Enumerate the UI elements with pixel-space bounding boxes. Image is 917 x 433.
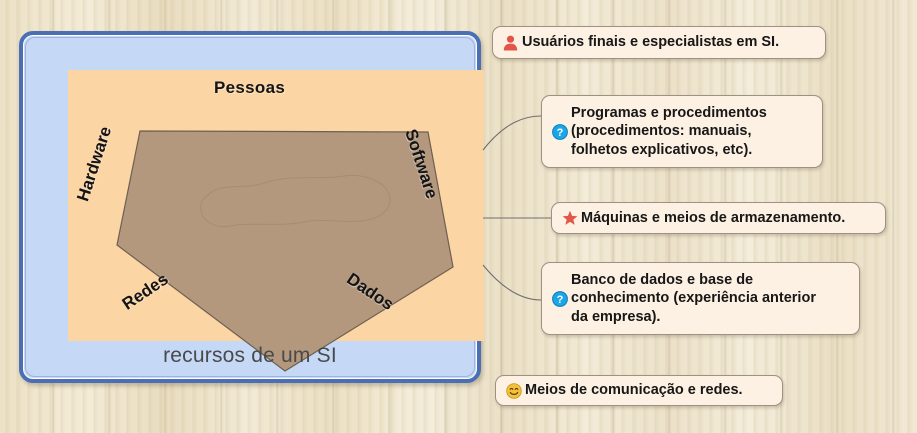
callout-meios[interactable]: Meios de comunicação e redes. <box>495 375 783 406</box>
corner-label-pessoas: Pessoas <box>214 78 285 98</box>
pentagon-canvas: Pessoas Hardware Software Redes Dados <box>68 70 484 341</box>
callout-text: Programas e procedimentos (procedimentos… <box>571 104 767 160</box>
callout-programas[interactable]: ? Programas e procedimentos (procediment… <box>541 95 823 168</box>
svg-text:?: ? <box>556 127 563 139</box>
panel-caption: recursos de um SI <box>23 344 477 368</box>
person-icon <box>502 34 519 51</box>
diagram-canvas: Pessoas Hardware Software Redes Dados re… <box>0 0 917 433</box>
callout-maquinas[interactable]: Máquinas e meios de armazenamento. <box>551 202 886 234</box>
callout-usuarios[interactable]: Usuários finais e especialistas em SI. <box>492 26 826 59</box>
callout-text: Banco de dados e base de conhecimento (e… <box>571 271 816 327</box>
callout-text: Meios de comunicação e redes. <box>525 381 743 400</box>
smiley-icon <box>505 382 522 399</box>
callout-text: Usuários finais e especialistas em SI. <box>522 33 779 52</box>
question-circle-icon: ? <box>551 290 568 307</box>
callout-text: Máquinas e meios de armazenamento. <box>581 209 845 228</box>
svg-text:?: ? <box>556 294 563 306</box>
resources-panel: Pessoas Hardware Software Redes Dados re… <box>19 31 481 383</box>
callout-banco[interactable]: ? Banco de dados e base de conhecimento … <box>541 262 860 335</box>
star-icon <box>561 210 578 227</box>
question-circle-icon: ? <box>551 123 568 140</box>
